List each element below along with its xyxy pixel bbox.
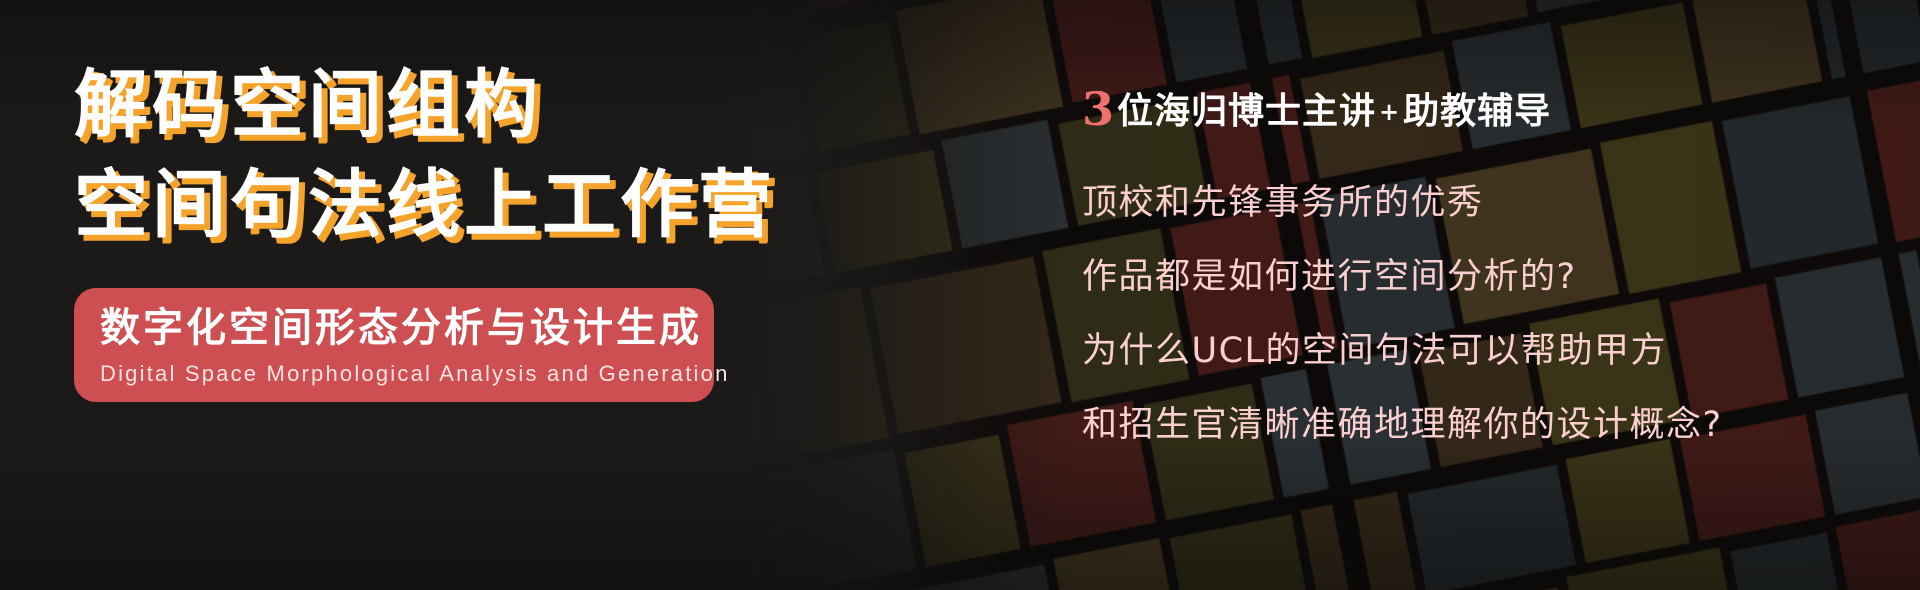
body-line: 作品都是如何进行空间分析的? xyxy=(1082,255,1862,299)
lead-text-after-plus: 助教辅导 xyxy=(1403,90,1551,132)
body-line: 为什么UCL的空间句法可以帮助甲方 xyxy=(1082,329,1862,373)
badge-subtitle-en: Digital Space Morphological Analysis and… xyxy=(100,360,688,388)
right-content-column: 3位海归博士主讲+助教辅导 顶校和先锋事务所的优秀 作品都是如何进行空间分析的?… xyxy=(1082,86,1862,447)
headline-line-2: 空间句法线上工作营 xyxy=(74,162,774,248)
promo-banner: 解码空间组构 空间句法线上工作营 数字化空间形态分析与设计生成 Digital … xyxy=(0,0,1920,590)
subtitle-badge: 数字化空间形态分析与设计生成 Digital Space Morphologic… xyxy=(74,288,714,402)
body-line: 和招生官清晰准确地理解你的设计概念? xyxy=(1082,403,1862,447)
lead-plus-sign: + xyxy=(1376,97,1403,126)
lead-text-before-plus: 位海归博士主讲 xyxy=(1117,90,1376,132)
lead-line: 3位海归博士主讲+助教辅导 xyxy=(1082,86,1862,135)
badge-title-cn: 数字化空间形态分析与设计生成 xyxy=(100,304,688,352)
lead-number: 3 xyxy=(1082,82,1117,136)
left-content-column: 解码空间组构 空间句法线上工作营 数字化空间形态分析与设计生成 Digital … xyxy=(74,62,774,402)
body-line: 顶校和先锋事务所的优秀 xyxy=(1082,181,1862,225)
headline-line-1: 解码空间组构 xyxy=(74,62,774,148)
